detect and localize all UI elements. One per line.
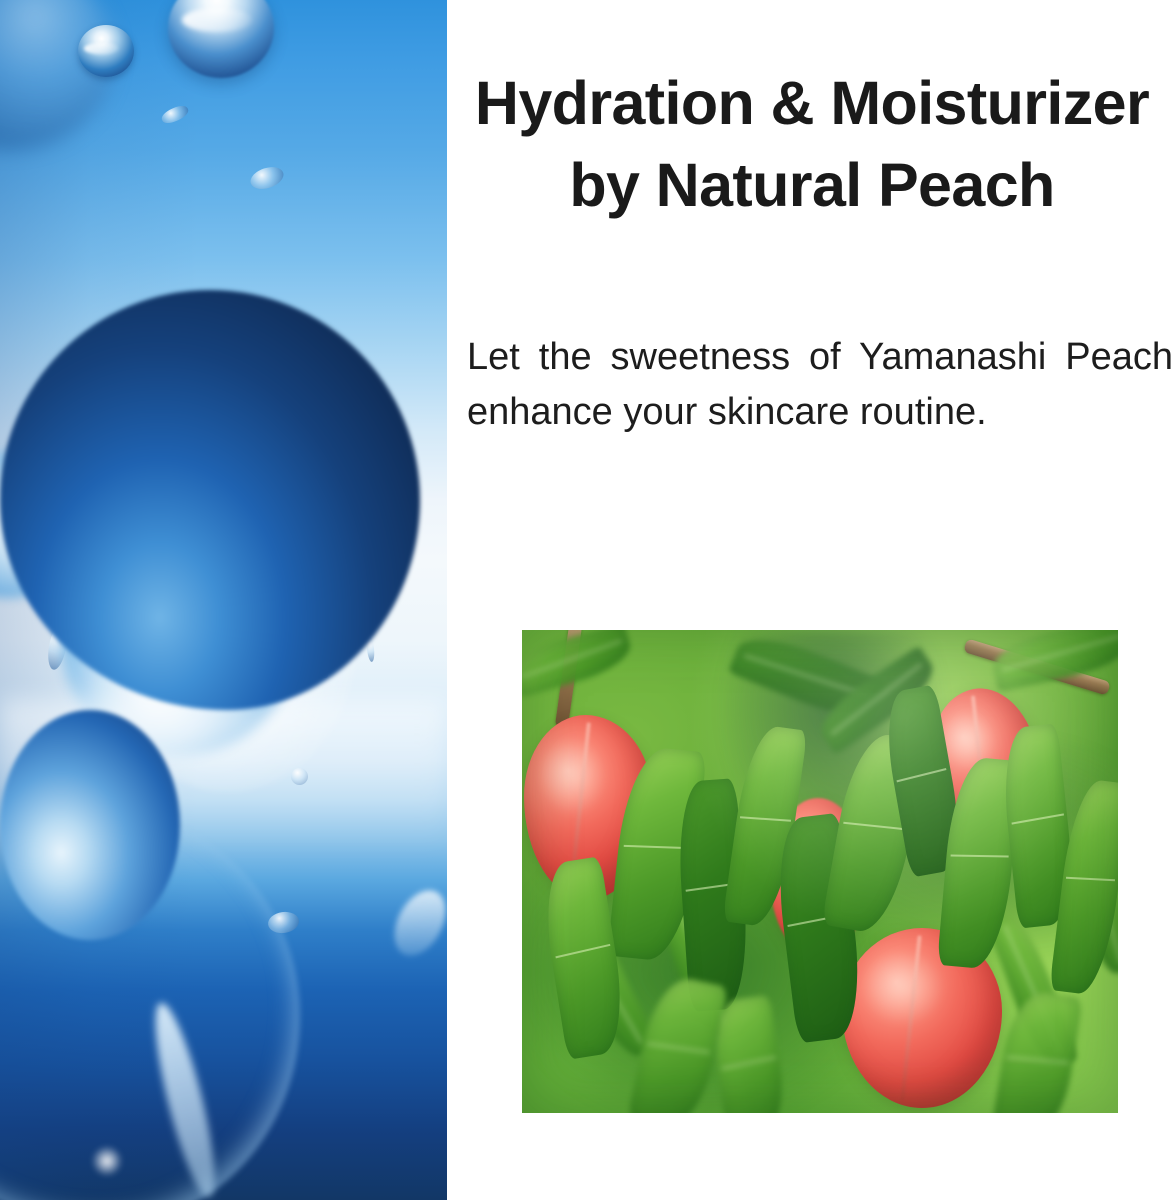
water-droplets-photo: [0, 0, 447, 1200]
water-droplet-bottom-right: [0, 710, 180, 940]
page-title: Hydration & Moisturizer by Natural Peach: [451, 62, 1173, 226]
water-droplet-small-top: [78, 25, 134, 77]
poster-canvas: Hydration & Moisturizer by Natural Peach…: [0, 0, 1173, 1200]
body-description: Let the sweetness of Yamanashi Peach enh…: [467, 330, 1173, 440]
peach-tree-photo: [522, 630, 1118, 1113]
water-droplet-bottom-sparkle: [92, 1146, 122, 1176]
photo-vignette: [522, 630, 1118, 1113]
